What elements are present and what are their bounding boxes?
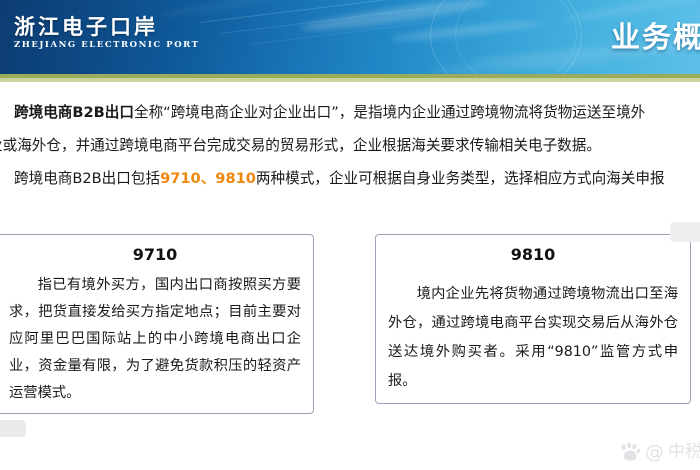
banner-title: 业务概 bbox=[611, 14, 700, 56]
baidu-paw-icon bbox=[619, 442, 641, 462]
intro-paragraph-1: 跨境电商B2B出口全称“跨境电商企业对企业出口”，是指境内企业通过跨境物流将货物… bbox=[0, 96, 700, 129]
globe-arc-decoration bbox=[455, 0, 577, 74]
mode-code-9810: 9810 bbox=[215, 170, 256, 187]
mode-card-9810: 9810 境内企业先将货物通过跨境物流出口至海外仓，通过跨境电商平台实现交易后从… bbox=[375, 234, 691, 404]
modes-sentence-after: 两种模式，企业可根据自身业务类型，选择相应方式向海关申报 bbox=[256, 170, 665, 187]
light-streak-decoration bbox=[250, 22, 429, 45]
globe-arc-decoration bbox=[430, 0, 582, 74]
mode-code-9710: 9710 bbox=[160, 170, 201, 187]
intro-text-block: 跨境电商B2B出口全称“跨境电商企业对企业出口”，是指境内企业通过跨境物流将货物… bbox=[0, 96, 700, 195]
site-banner: 浙江电子口岸 ZHEJIANG ELECTRONIC PORT 业务概 bbox=[0, 0, 700, 74]
modes-sentence-before: 跨境电商B2B出口包括 bbox=[14, 170, 160, 187]
light-streak-decoration bbox=[220, 7, 429, 34]
intro-lead-term: 跨境电商B2B出口 bbox=[14, 104, 134, 121]
mode-card-9710-title: 9710 bbox=[9, 245, 301, 266]
logo-chinese-name: 浙江电子口岸 bbox=[14, 16, 200, 37]
cloud-decoration bbox=[300, 0, 490, 35]
divider-olive-light-band bbox=[0, 78, 700, 82]
overlay-chip-top-right bbox=[670, 222, 700, 242]
mode-card-9710-body: 指已有境外买方，国内出口商按照买方要求，把货直接发给买方指定地点；目前主要对应阿… bbox=[9, 272, 301, 407]
cloud-decoration bbox=[390, 18, 540, 44]
watermark: @ 中税 bbox=[619, 442, 700, 462]
intro-paragraph-1-rest: 全称“跨境电商企业对企业出口”，是指境内企业通过跨境物流将货物运送至境外 bbox=[134, 104, 645, 121]
mode-card-9810-body: 境内企业先将货物通过跨境物流出口至海外仓，通过跨境电商平台实现交易后从海外仓送达… bbox=[388, 280, 678, 396]
light-streak-decoration bbox=[200, 0, 438, 23]
mode-card-9810-title: 9810 bbox=[388, 245, 678, 266]
intro-paragraph-2: 业或海外仓，并通过跨境电商平台完成交易的贸易形式，企业根据海关要求传输相关电子数… bbox=[0, 129, 700, 162]
cloud-decoration bbox=[430, 57, 610, 74]
mode-code-separator: 、 bbox=[201, 170, 216, 187]
overlay-chip-bottom-left bbox=[0, 420, 26, 437]
logo-english-name: ZHEJIANG ELECTRONIC PORT bbox=[14, 41, 200, 50]
mode-card-9710: 9710 指已有境外买方，国内出口商按照买方要求，把货直接发给买方指定地点；目前… bbox=[0, 234, 314, 414]
intro-paragraph-3: 跨境电商B2B出口包括9710、9810两种模式，企业可根据自身业务类型，选择相… bbox=[0, 162, 700, 195]
site-logo: 浙江电子口岸 ZHEJIANG ELECTRONIC PORT bbox=[14, 16, 200, 50]
watermark-at-symbol: @ bbox=[645, 443, 664, 462]
watermark-text: 中税 bbox=[668, 444, 700, 461]
